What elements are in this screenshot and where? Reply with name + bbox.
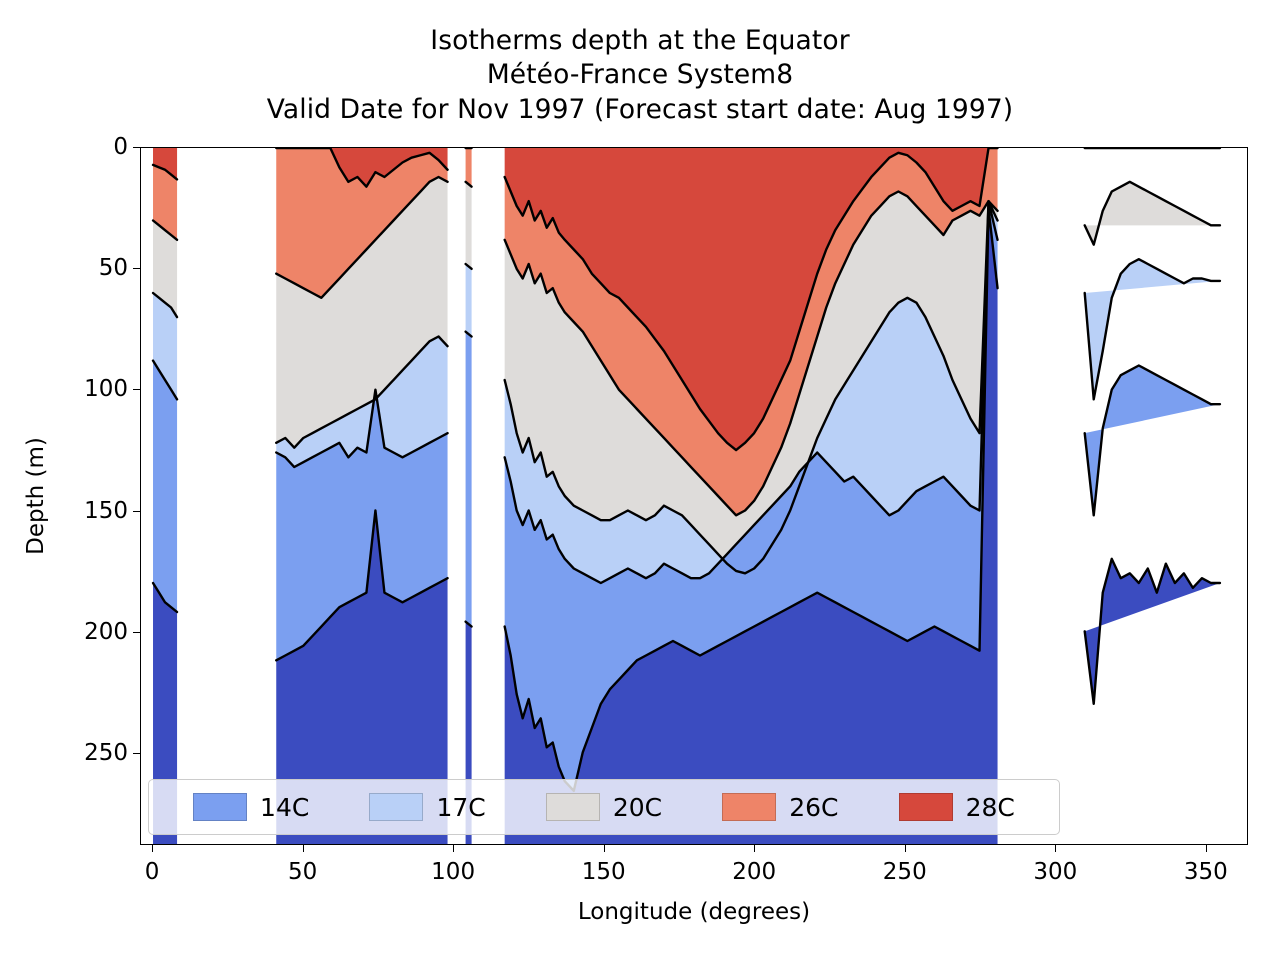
- legend-swatch-17C: [369, 793, 423, 821]
- x-tick-label-200: 200: [732, 859, 776, 885]
- y-tick-label-100: 100: [84, 376, 128, 402]
- legend-item-20C[interactable]: 20C: [546, 793, 662, 822]
- chart-title-line-2: Météo-France System8: [0, 58, 1280, 92]
- legend-swatch-14C: [193, 793, 247, 821]
- legend-item-26C[interactable]: 26C: [722, 793, 838, 822]
- x-tick-mark-300: [1055, 845, 1056, 852]
- y-tick-label-0: 0: [113, 134, 128, 160]
- band-14C-seg0: [153, 361, 177, 612]
- x-tick-mark-0: [152, 845, 153, 852]
- x-tick-mark-50: [303, 845, 304, 852]
- legend-label-28C: 28C: [966, 793, 1015, 822]
- x-tick-label-250: 250: [883, 859, 927, 885]
- x-tick-label-0: 0: [145, 859, 160, 885]
- y-axis-label: Depth (m): [23, 437, 49, 555]
- x-tick-mark-250: [905, 845, 906, 852]
- legend-swatch-28C: [899, 793, 953, 821]
- legend-label-26C: 26C: [789, 793, 838, 822]
- x-tick-label-100: 100: [431, 859, 475, 885]
- chart-title-line-1: Isotherms depth at the Equator: [0, 24, 1280, 58]
- legend-item-28C[interactable]: 28C: [899, 793, 1015, 822]
- chart-title: Isotherms depth at the Equator Météo-Fra…: [0, 24, 1280, 127]
- x-tick-mark-150: [604, 845, 605, 852]
- x-tick-label-50: 50: [288, 859, 317, 885]
- legend-label-14C: 14C: [260, 793, 309, 822]
- band-20C-seg4: [1085, 182, 1220, 245]
- x-axis-label: Longitude (degrees): [578, 899, 810, 925]
- y-tick-mark-0: [133, 147, 140, 148]
- y-tick-label-50: 50: [99, 255, 128, 281]
- band-14C-seg4: [1085, 366, 1220, 516]
- x-tick-mark-100: [453, 845, 454, 852]
- isotherm-area-plot: [141, 148, 1247, 844]
- x-tick-label-150: 150: [582, 859, 626, 885]
- y-tick-mark-150: [133, 511, 140, 512]
- isotherm-line-14C-seg4: [1085, 559, 1220, 704]
- y-tick-label-150: 150: [84, 498, 128, 524]
- figure-canvas: Isotherms depth at the Equator Météo-Fra…: [0, 0, 1280, 960]
- band-14C-seg2: [466, 332, 472, 627]
- legend-item-17C[interactable]: 17C: [369, 793, 485, 822]
- y-tick-mark-100: [133, 389, 140, 390]
- band-20C-seg2: [466, 182, 472, 269]
- y-tick-mark-50: [133, 268, 140, 269]
- legend-label-20C: 20C: [613, 793, 662, 822]
- chart-title-line-3: Valid Date for Nov 1997 (Forecast start …: [0, 93, 1280, 127]
- y-tick-label-250: 250: [84, 740, 128, 766]
- y-tick-mark-200: [133, 632, 140, 633]
- plot-area: [140, 147, 1248, 845]
- band-17C-seg2: [466, 264, 472, 337]
- x-tick-label-300: 300: [1033, 859, 1077, 885]
- legend-swatch-26C: [722, 793, 776, 821]
- y-tick-label-200: 200: [84, 619, 128, 645]
- legend-label-17C: 17C: [436, 793, 485, 822]
- band-26C-seg2: [466, 148, 472, 187]
- y-tick-mark-250: [133, 753, 140, 754]
- x-tick-mark-350: [1206, 845, 1207, 852]
- legend-item-14C[interactable]: 14C: [193, 793, 309, 822]
- x-tick-label-350: 350: [1184, 859, 1228, 885]
- x-tick-mark-200: [754, 845, 755, 852]
- chart-legend[interactable]: 14C17C20C26C28C: [148, 779, 1060, 835]
- legend-swatch-20C: [546, 793, 600, 821]
